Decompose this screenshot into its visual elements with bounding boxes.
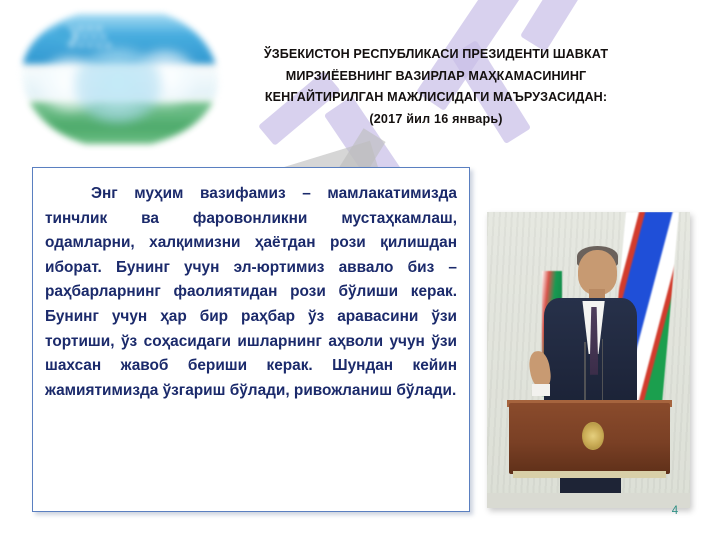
title-line-1: ЎЗБЕКИСТОН РЕСПУБЛИКАСИ ПРЕЗИДЕНТИ ШАВКА… [226, 44, 646, 66]
photo-floor [487, 493, 690, 508]
quote-text-body: Энг муҳим вазифамиз – мамлакатимизда тин… [33, 168, 469, 413]
slide-title: ЎЗБЕКИСТОН РЕСПУБЛИКАСИ ПРЕЗИДЕНТИ ШАВКА… [226, 44, 646, 130]
flag-highlight [73, 47, 163, 123]
quote-text-box: Энг муҳим вазифамиз – мамлакатимизда тин… [32, 167, 470, 512]
quote-paragraph: Энг муҳим вазифамиз – мамлакатимизда тин… [45, 182, 457, 403]
photo-person-cuff [532, 384, 550, 396]
title-line-2: МИРЗИЁЕВНИНГ ВАЗИРЛАР МАҲКАМАСИНИНГ [226, 66, 646, 88]
page-number: 4 [664, 505, 686, 517]
photo-podium-base [513, 471, 665, 478]
title-date: (2017 йил 16 январь) [226, 109, 646, 131]
photo-microphone [602, 339, 604, 407]
uzbekistan-flag-icon [22, 8, 218, 148]
president-at-podium-photo [487, 212, 690, 508]
photo-microphone [584, 342, 586, 407]
presentation-slide: ЎЗБЕКИСТОН РЕСПУБЛИКАСИ ПРЕЗИДЕНТИ ШАВКА… [0, 0, 720, 540]
flag-image [22, 8, 218, 148]
title-line-3: КЕНГАЙТИРИЛГАН МАЖЛИСИДАГИ МАЪРУЗАСИДАН: [226, 87, 646, 109]
crescent-moon-icon [51, 26, 70, 45]
photo-podium-emblem-icon [582, 422, 603, 450]
